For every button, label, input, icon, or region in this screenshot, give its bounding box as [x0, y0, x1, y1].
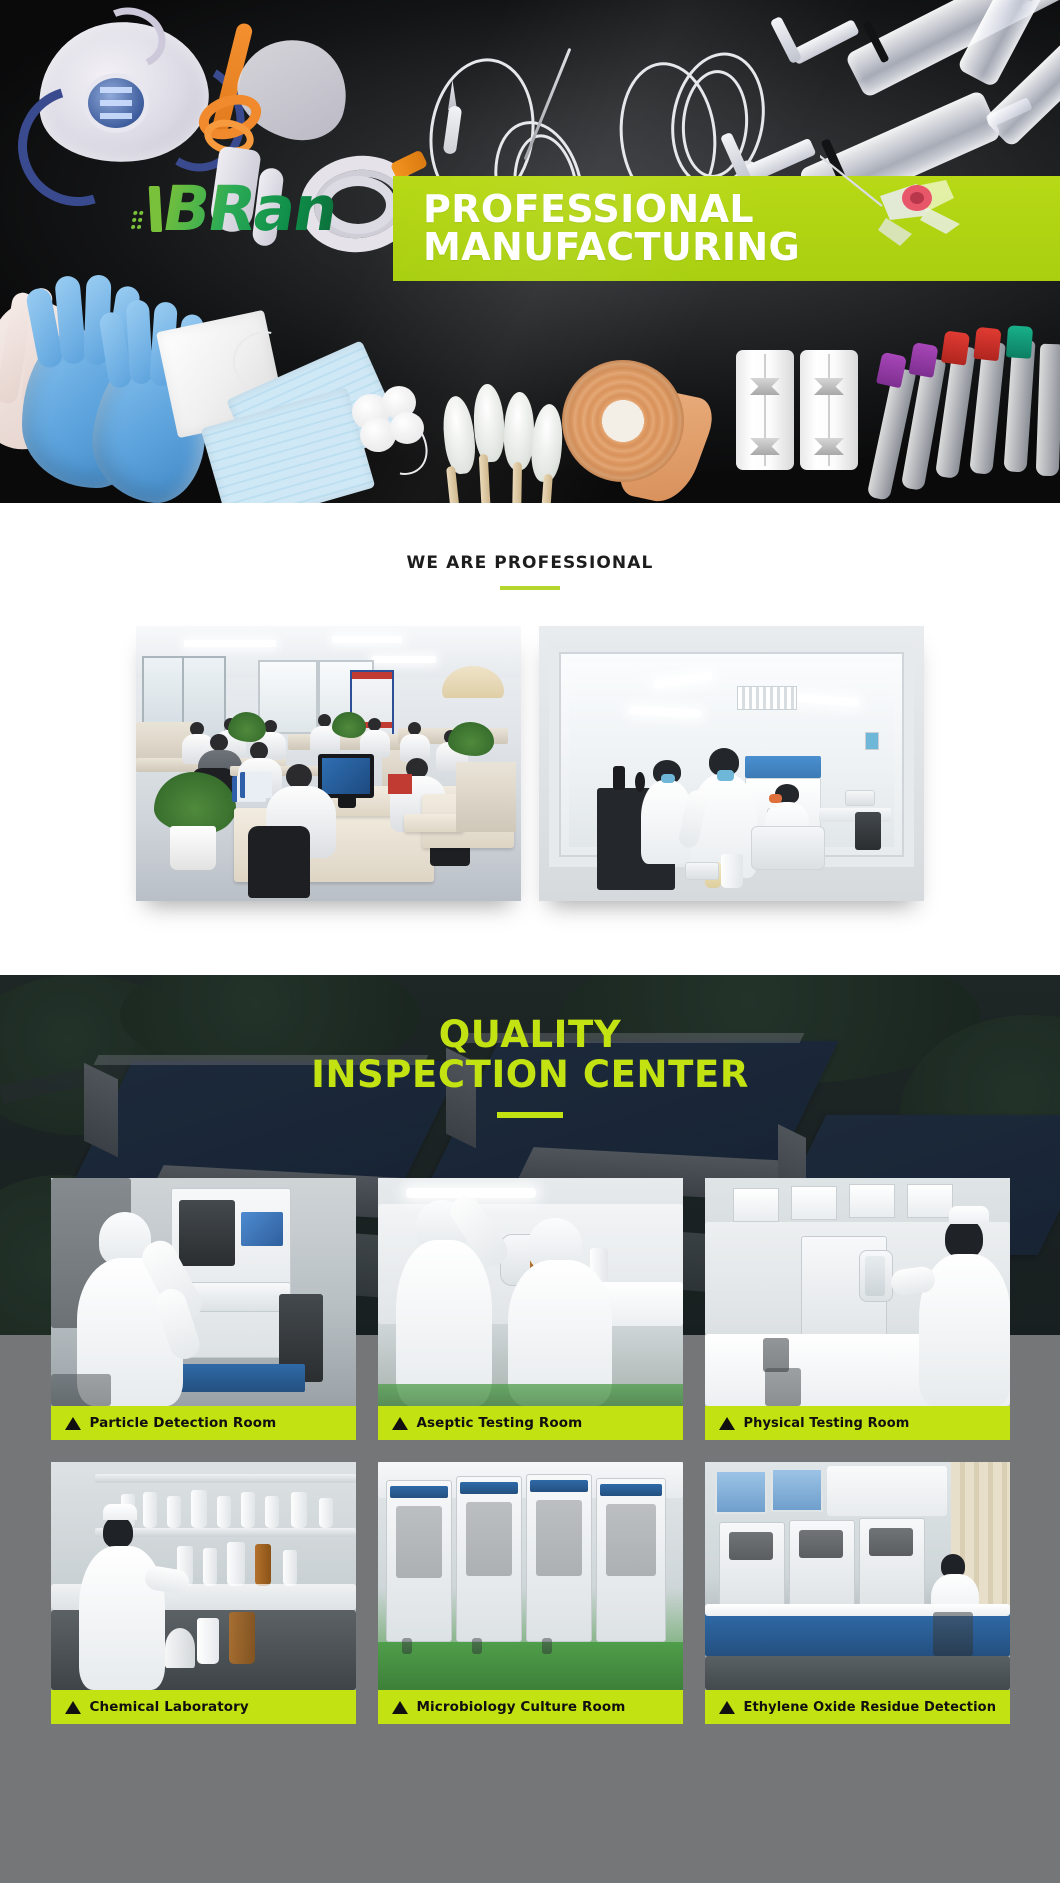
triangle-icon: [719, 1701, 735, 1714]
room-caption: Aseptic Testing Room: [378, 1406, 683, 1440]
professional-manufacturing-banner: PROFESSIONAL MANUFACTURING: [393, 176, 1060, 281]
quality-title-line-2: INSPECTION CENTER: [311, 1053, 749, 1096]
section-heading: WE ARE PROFESSIONAL: [0, 503, 1060, 573]
room-photo: [378, 1178, 683, 1406]
inspection-room-card[interactable]: Ethylene Oxide Residue Detection: [705, 1462, 1010, 1724]
banner-line-2: MANUFACTURING: [423, 229, 800, 267]
room-caption: Microbiology Culture Room: [378, 1690, 683, 1724]
room-caption: Ethylene Oxide Residue Detection: [705, 1690, 1010, 1724]
bran-logo: BRan: [145, 180, 340, 237]
logo-wordmark: BRan: [158, 180, 340, 237]
inspection-room-card[interactable]: Microbiology Culture Room: [378, 1462, 683, 1724]
room-photo: [51, 1462, 356, 1690]
triangle-icon: [65, 1701, 81, 1714]
triangle-icon: [392, 1417, 408, 1430]
quality-inspection-center-section: QUALITY INSPECTION CENTER: [0, 975, 1060, 1883]
room-label: Physical Testing Room: [744, 1416, 910, 1431]
logo-tick-icon: [149, 186, 162, 232]
room-caption: Physical Testing Room: [705, 1406, 1010, 1440]
room-label: Ethylene Oxide Residue Detection: [744, 1700, 997, 1715]
office-photo: [136, 626, 521, 901]
room-caption: Particle Detection Room: [51, 1406, 356, 1440]
room-label: Particle Detection Room: [90, 1415, 277, 1431]
we-are-professional-section: WE ARE PROFESSIONAL: [0, 503, 1060, 975]
quality-title-line-1: QUALITY: [439, 1013, 622, 1056]
inspection-room-card[interactable]: Aseptic Testing Room: [378, 1178, 683, 1440]
quality-heading-block: QUALITY INSPECTION CENTER: [0, 1015, 1060, 1118]
hero-banner: BRan PROFESSIONAL MANUFACTURING: [0, 0, 1060, 503]
room-label: Microbiology Culture Room: [417, 1699, 626, 1715]
inspection-room-card[interactable]: Physical Testing Room: [705, 1178, 1010, 1440]
professional-photo-row: [0, 626, 1060, 901]
inspection-room-card[interactable]: Particle Detection Room: [51, 1178, 356, 1440]
heading-underline: [500, 586, 560, 590]
inspection-room-grid: Particle Detection Room: [0, 1178, 1060, 1724]
quality-title-underline: [497, 1112, 563, 1118]
inspection-room-row-2: Chemical Laboratory: [51, 1462, 1010, 1724]
triangle-icon: [392, 1701, 408, 1714]
inspection-room-card[interactable]: Chemical Laboratory: [51, 1462, 356, 1724]
room-photo: [705, 1462, 1010, 1690]
logo-dots-icon: [131, 210, 144, 230]
inspection-room-row-1: Particle Detection Room: [51, 1178, 1010, 1440]
banner-text: PROFESSIONAL MANUFACTURING: [423, 191, 800, 266]
triangle-icon: [65, 1417, 81, 1430]
quality-title: QUALITY INSPECTION CENTER: [0, 1015, 1060, 1095]
room-photo: [51, 1178, 356, 1406]
room-caption: Chemical Laboratory: [51, 1690, 356, 1724]
room-photo: [378, 1462, 683, 1690]
room-label: Chemical Laboratory: [90, 1699, 249, 1715]
triangle-icon: [719, 1417, 735, 1430]
room-photo: [705, 1178, 1010, 1406]
laboratory-photo: [539, 626, 924, 901]
room-label: Aseptic Testing Room: [417, 1415, 583, 1431]
